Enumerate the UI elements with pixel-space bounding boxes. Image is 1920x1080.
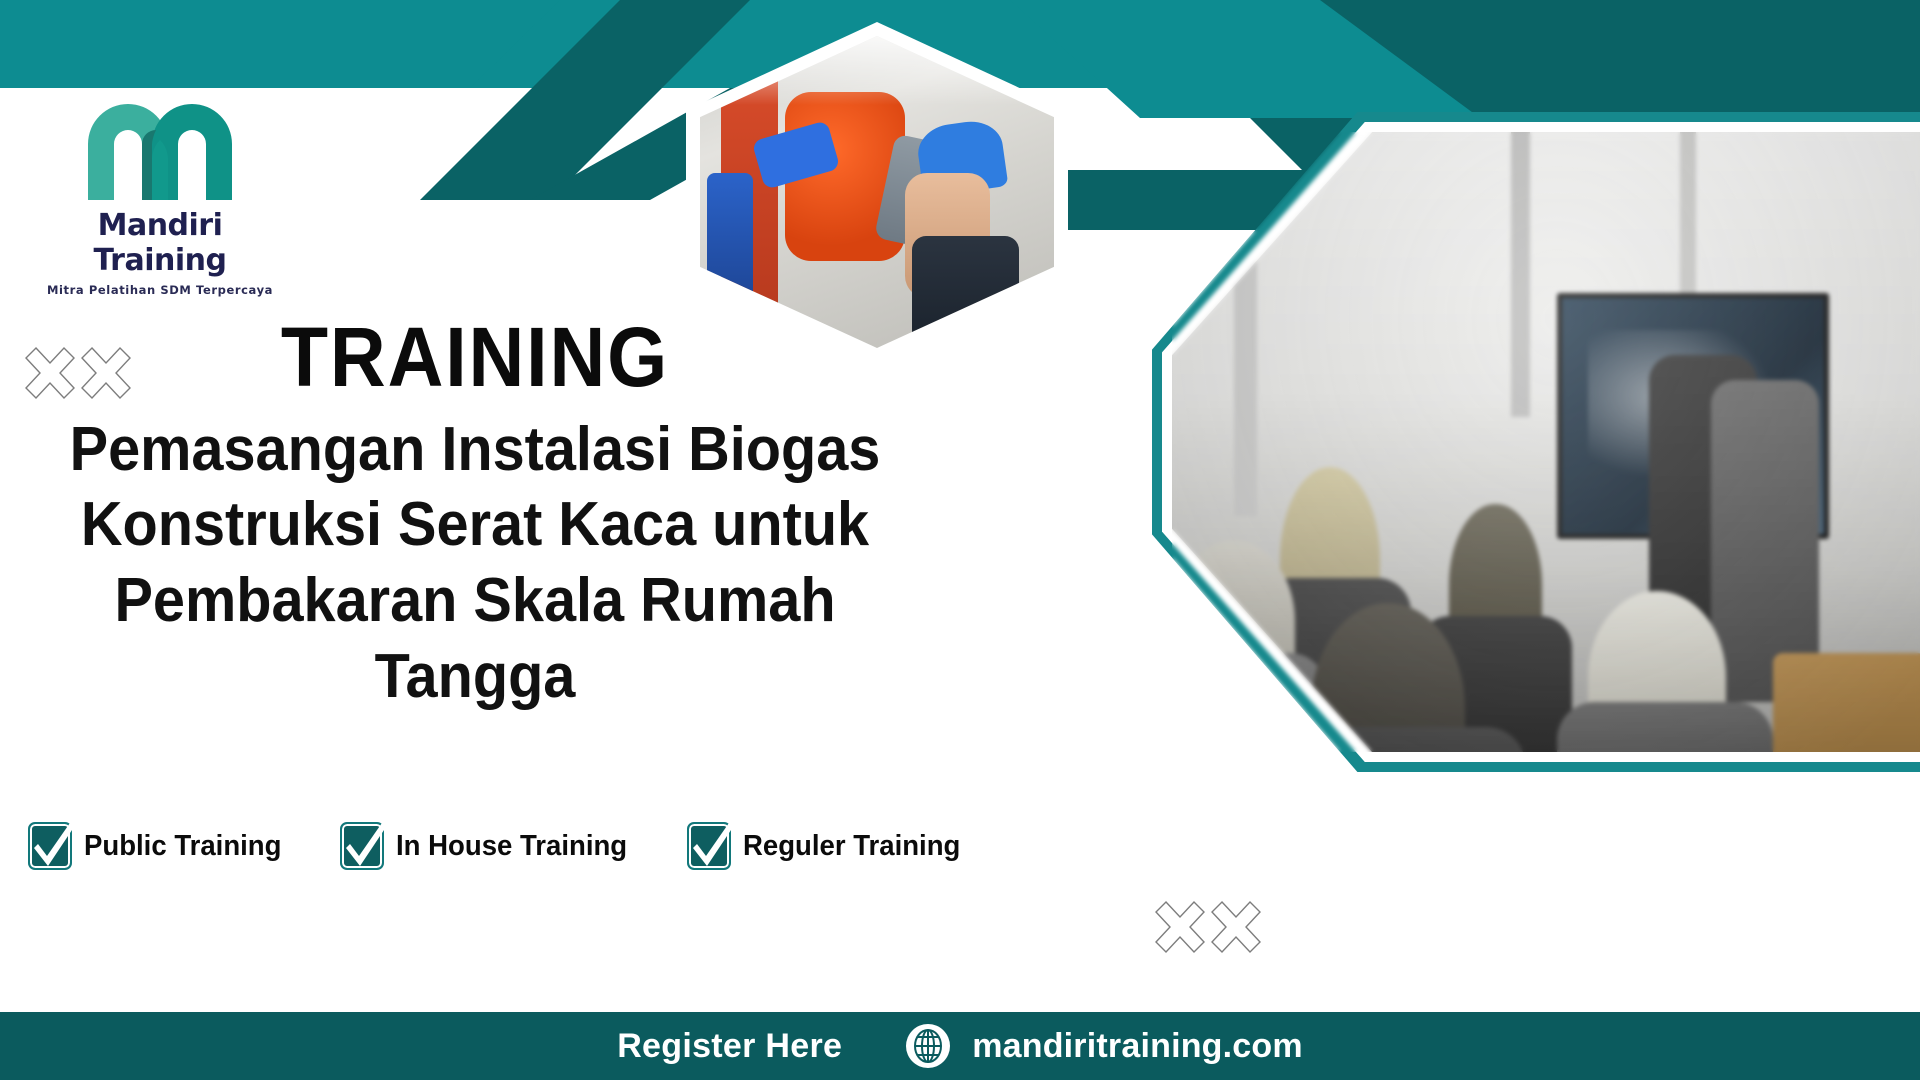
x-cross-outline-icon bbox=[1152, 898, 1264, 965]
headline-block: TRAINING Pemasangan Instalasi Biogas Kon… bbox=[0, 318, 950, 714]
course-title-line: Konstruksi Serat Kaca untuk bbox=[33, 487, 917, 563]
list-item: Reguler Training bbox=[687, 822, 972, 870]
training-type-list: Public Training In House Training Regule… bbox=[28, 822, 948, 870]
brand-tagline: Mitra Pelatihan SDM Terpercaya bbox=[30, 283, 290, 297]
list-item: Public Training bbox=[28, 822, 292, 870]
mandiri-m-monogram-icon bbox=[80, 96, 240, 204]
course-title-line: Pembakaran Skala Rumah bbox=[33, 563, 917, 639]
left-teal-block bbox=[0, 0, 560, 88]
hex-photo-technician bbox=[700, 36, 1054, 348]
list-item-label: Reguler Training bbox=[743, 830, 960, 863]
website-group[interactable]: mandiritraining.com bbox=[906, 1024, 1303, 1068]
list-item-label: In House Training bbox=[396, 830, 627, 863]
website-url[interactable]: mandiritraining.com bbox=[972, 1027, 1303, 1066]
eyebrow-training: TRAINING bbox=[38, 318, 912, 398]
course-title-line: Tangga bbox=[33, 639, 917, 715]
checkbox-checked-icon bbox=[687, 822, 731, 870]
hex-photo-seminar bbox=[1172, 132, 1920, 752]
poster-root: Mandiri Training Mitra Pelatihan SDM Ter… bbox=[0, 0, 1920, 1080]
footer-bar: Register Here mandiritraining.com bbox=[0, 1012, 1920, 1080]
globe-icon bbox=[906, 1024, 950, 1068]
list-item: In House Training bbox=[340, 822, 639, 870]
checkbox-checked-icon bbox=[28, 822, 72, 870]
register-here-label: Register Here bbox=[617, 1027, 842, 1066]
brand-name: Mandiri Training bbox=[30, 208, 290, 278]
hex-photo-seminar-inner-border bbox=[1162, 122, 1920, 762]
brand-logo: Mandiri Training Mitra Pelatihan SDM Ter… bbox=[30, 96, 290, 297]
checkbox-checked-icon bbox=[340, 822, 384, 870]
list-item-label: Public Training bbox=[84, 830, 281, 863]
course-title-line: Pemasangan Instalasi Biogas bbox=[33, 412, 917, 488]
course-title: Pemasangan Instalasi Biogas Konstruksi S… bbox=[33, 412, 917, 715]
